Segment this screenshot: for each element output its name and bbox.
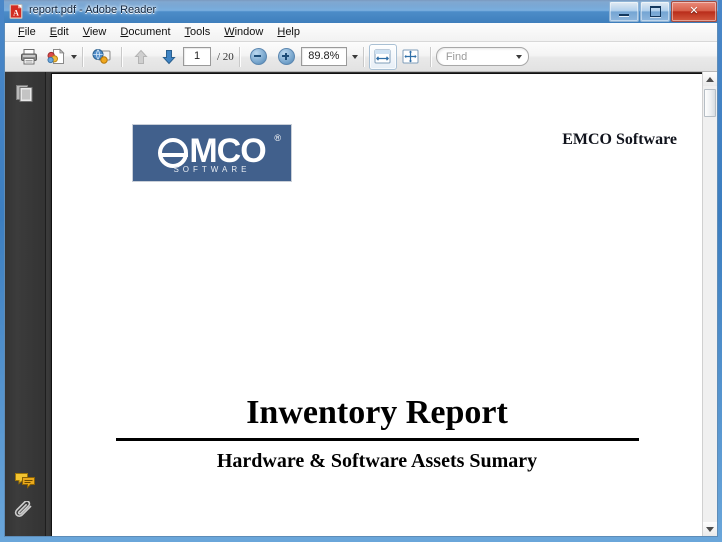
printer-icon bbox=[20, 48, 38, 65]
toolbar-separator bbox=[239, 47, 240, 67]
paperclip-icon bbox=[14, 501, 36, 521]
find-dropdown-caret[interactable] bbox=[516, 55, 522, 59]
fit-page-icon bbox=[402, 49, 419, 64]
svg-text:A: A bbox=[13, 9, 19, 18]
document-title-block: Inwentory Report Hardware & Software Ass… bbox=[52, 394, 702, 473]
toolbar-separator bbox=[430, 47, 431, 67]
menu-view[interactable]: View bbox=[76, 24, 114, 40]
zoom-in-icon bbox=[278, 48, 295, 65]
comments-icon bbox=[14, 471, 36, 491]
toolbar-separator bbox=[82, 47, 83, 67]
menu-bar: File Edit View Document Tools Window Hel… bbox=[5, 23, 717, 42]
arrow-down-icon bbox=[161, 49, 177, 65]
menu-help[interactable]: Help bbox=[270, 24, 307, 40]
zoom-out-icon bbox=[250, 48, 267, 65]
minimize-button[interactable] bbox=[609, 1, 639, 22]
fit-width-icon bbox=[374, 49, 391, 64]
document-brand-label: EMCO Software bbox=[562, 131, 677, 149]
navigation-pane bbox=[5, 72, 46, 536]
search-web-icon bbox=[92, 48, 112, 65]
find-placeholder: Find bbox=[446, 51, 467, 63]
vertical-scrollbar[interactable] bbox=[702, 72, 717, 536]
client-area: File Edit View Document Tools Window Hel… bbox=[4, 23, 718, 537]
emco-logo-e-mark bbox=[158, 138, 188, 168]
menu-tools[interactable]: Tools bbox=[178, 24, 218, 40]
menu-edit[interactable]: Edit bbox=[43, 24, 76, 40]
pages-icon bbox=[15, 83, 35, 103]
adobe-reader-icon: A bbox=[9, 4, 24, 19]
zoom-level-input[interactable]: 89.8% bbox=[301, 47, 347, 66]
emco-logo: MCO ® SOFTWARE bbox=[132, 124, 292, 182]
emco-logo-subtext: SOFTWARE bbox=[133, 165, 291, 174]
page-total-label: / 20 bbox=[217, 51, 234, 63]
zoom-out-button[interactable] bbox=[245, 44, 273, 70]
send-document-icon bbox=[47, 48, 66, 65]
scroll-up-button[interactable] bbox=[703, 72, 717, 86]
menu-document[interactable]: Document bbox=[113, 24, 177, 40]
close-icon: ✕ bbox=[672, 2, 716, 21]
attachments-panel-button[interactable] bbox=[12, 498, 38, 524]
registered-trademark-icon: ® bbox=[274, 133, 281, 143]
pdf-page: MCO ® SOFTWARE EMCO Software Inwentory R… bbox=[51, 73, 703, 536]
comments-panel-button[interactable] bbox=[12, 468, 38, 494]
toolbar-separator bbox=[363, 47, 364, 67]
toolbar-separator bbox=[121, 47, 122, 67]
previous-page-button[interactable] bbox=[127, 44, 155, 70]
scroll-down-button[interactable] bbox=[703, 522, 717, 536]
title-bar[interactable]: A report.pdf - Adobe Reader ✕ bbox=[4, 0, 718, 23]
email-dropdown-caret[interactable] bbox=[71, 55, 77, 59]
find-input[interactable]: Find bbox=[436, 47, 529, 66]
window-controls: ✕ bbox=[608, 1, 717, 21]
zoom-dropdown-caret[interactable] bbox=[352, 55, 358, 59]
window-title: report.pdf - Adobe Reader bbox=[29, 4, 156, 16]
maximize-button[interactable] bbox=[640, 1, 670, 22]
document-viewer: MCO ® SOFTWARE EMCO Software Inwentory R… bbox=[5, 72, 717, 536]
page-number-input[interactable]: 1 bbox=[183, 47, 211, 66]
next-page-button[interactable] bbox=[155, 44, 183, 70]
document-subtitle: Hardware & Software Assets Sumary bbox=[52, 450, 702, 473]
fit-width-button[interactable] bbox=[369, 44, 397, 70]
title-divider bbox=[116, 438, 639, 441]
zoom-in-button[interactable] bbox=[273, 44, 301, 70]
emco-logo-wordmark: MCO bbox=[158, 134, 265, 168]
fit-page-button[interactable] bbox=[397, 44, 425, 70]
menu-file[interactable]: File bbox=[11, 24, 43, 40]
scroll-down-icon bbox=[706, 527, 714, 532]
emco-logo-text: MCO bbox=[189, 132, 265, 170]
toolbar: 1 / 20 89.8% bbox=[5, 42, 717, 72]
maximize-icon bbox=[641, 2, 669, 21]
arrow-up-icon bbox=[133, 49, 149, 65]
email-document-button[interactable] bbox=[43, 44, 69, 70]
print-button[interactable] bbox=[15, 44, 43, 70]
application-window: A report.pdf - Adobe Reader ✕ File bbox=[0, 0, 722, 542]
scroll-up-icon bbox=[706, 77, 714, 82]
pages-panel-button[interactable] bbox=[12, 80, 38, 106]
search-button[interactable] bbox=[88, 44, 116, 70]
scroll-thumb[interactable] bbox=[704, 89, 716, 117]
document-title: Inwentory Report bbox=[52, 394, 702, 432]
page-canvas[interactable]: MCO ® SOFTWARE EMCO Software Inwentory R… bbox=[46, 72, 703, 536]
minimize-icon bbox=[610, 2, 638, 21]
menu-window[interactable]: Window bbox=[217, 24, 270, 40]
close-button[interactable]: ✕ bbox=[671, 1, 717, 22]
